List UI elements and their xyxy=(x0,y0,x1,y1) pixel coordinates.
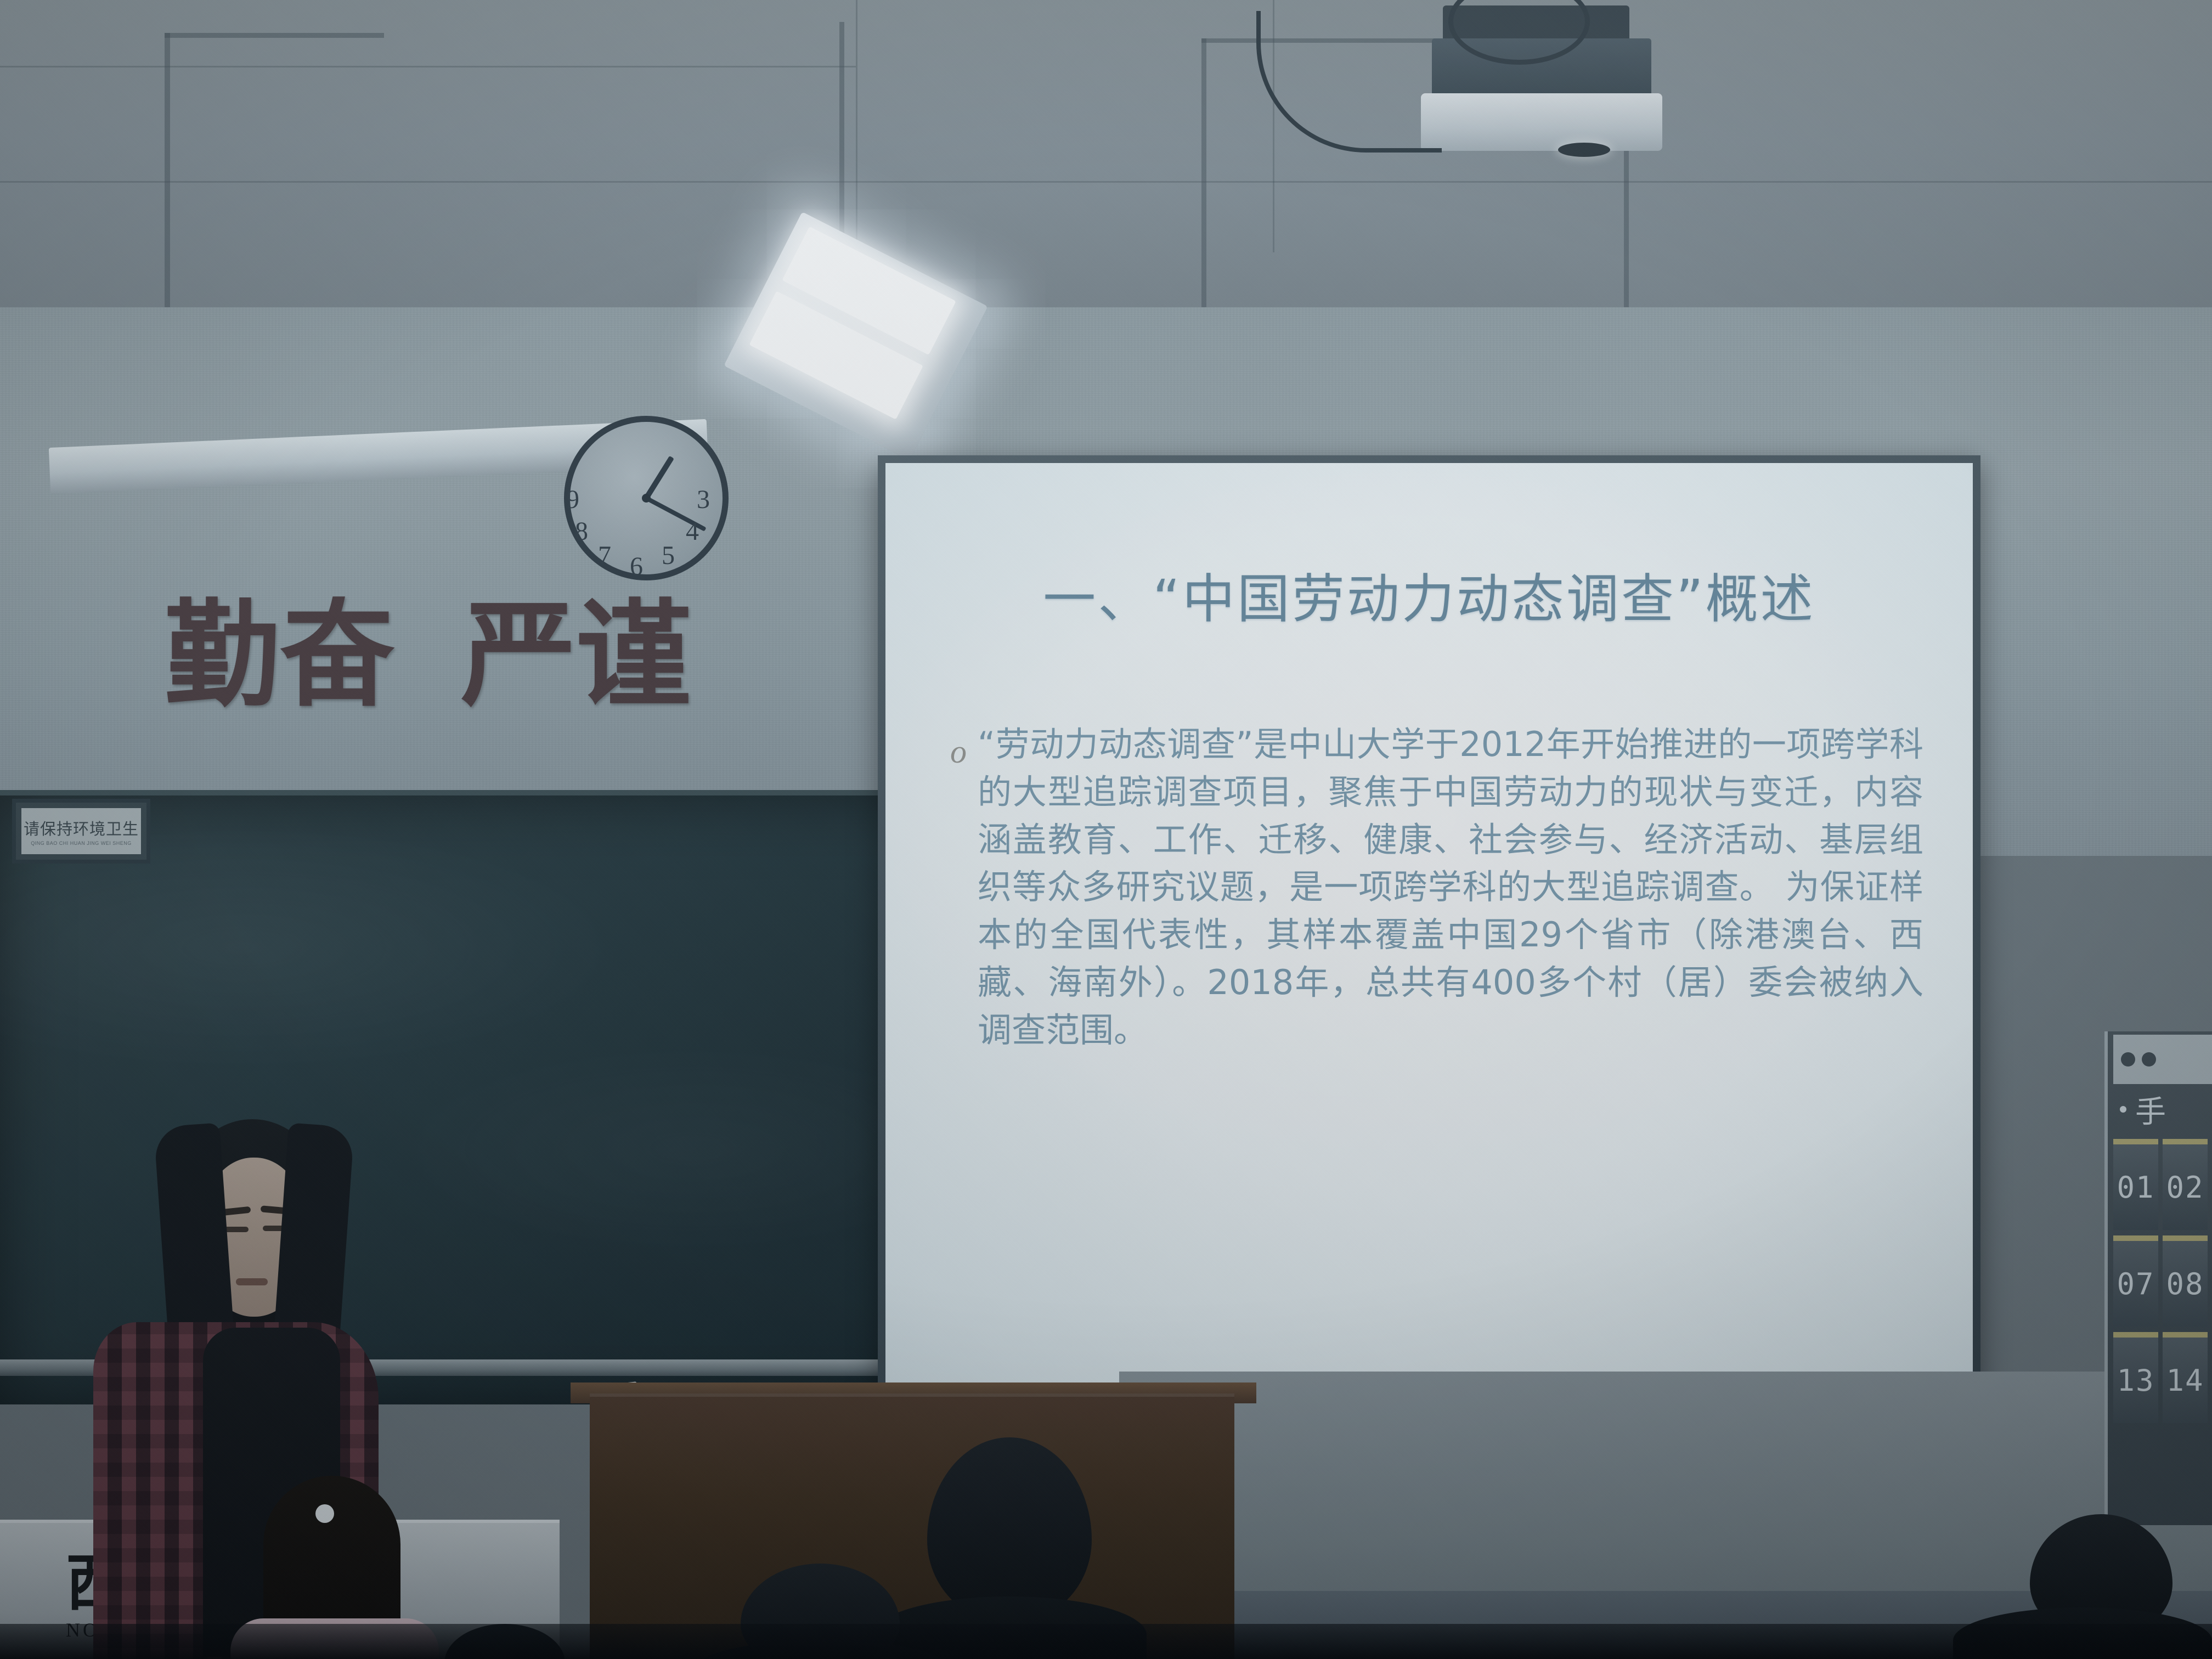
cabinet-slot[interactable]: 02 xyxy=(2163,1139,2208,1230)
clock-number: 6 xyxy=(622,554,651,580)
clock-center-pin xyxy=(642,494,651,503)
wall-slogan-right: 严谨 xyxy=(461,598,691,713)
classroom-scene: 3 4 5 6 7 8 9 勤奋 严谨 请保持环境卫生 QING BAO CHI… xyxy=(0,0,2212,1659)
cabinet-slot[interactable]: 01 xyxy=(2113,1139,2158,1230)
ceiling xyxy=(0,0,2212,351)
notice-sign-text-cn: 请保持环境卫生 xyxy=(24,816,139,839)
slide-body: o “劳动力动态调查”是中山大学于2012年开始推进的一项跨学科的大型追踪调查项… xyxy=(950,721,1923,1054)
presenter-mouth xyxy=(236,1278,268,1285)
notice-sign-text-pinyin: QING BAO CHI HUAN JING WEI SHENG xyxy=(31,840,132,846)
cabinet-knob-icon[interactable] xyxy=(2142,1052,2156,1066)
cabinet-label: 手 xyxy=(2113,1087,2212,1131)
projection-screen-frame: 一、“中国劳动力动态调查”概述 o “劳动力动态调查”是中山大学于2012年开始… xyxy=(878,455,1980,1399)
clock-number: 8 xyxy=(567,518,596,545)
projector-lens-icon xyxy=(1558,143,1610,157)
cabinet-knob-icon[interactable] xyxy=(2121,1052,2135,1066)
clock-number: 9 xyxy=(558,487,588,513)
clock-hour-hand xyxy=(644,456,674,500)
clock-number: 3 xyxy=(689,487,718,513)
clock-number: 4 xyxy=(678,518,707,545)
floor-shadow xyxy=(0,1624,2212,1659)
cabinet-dot-icon xyxy=(2120,1106,2126,1113)
ceiling-conduit xyxy=(165,33,170,307)
cabinet-slot[interactable]: 13 xyxy=(2113,1332,2158,1423)
notice-sign: 请保持环境卫生 QING BAO CHI HUAN JING WEI SHENG xyxy=(12,799,150,864)
wall-clock: 3 4 5 6 7 8 9 xyxy=(564,416,729,580)
ceiling-conduit xyxy=(1201,38,1206,346)
ceiling-conduit xyxy=(165,33,384,38)
cabinet-slot[interactable]: 14 xyxy=(2163,1332,2208,1423)
clock-number: 5 xyxy=(653,543,683,569)
cabinet-slot-grid: 01 02 07 08 13 14 xyxy=(2113,1139,2212,1423)
projector-body xyxy=(1421,93,1662,151)
wall-slogan: 勤奋 严谨 xyxy=(165,598,691,713)
cabinet-label-text: 手 xyxy=(2135,1087,2166,1132)
slide-bullet-icon: o xyxy=(950,721,967,1054)
phone-storage-cabinet[interactable]: 手 01 02 07 08 13 14 xyxy=(2104,1031,2212,1525)
projection-screen: 一、“中国劳动力动态调查”概述 o “劳动力动态调查”是中山大学于2012年开始… xyxy=(885,463,1973,1391)
wall-slogan-left: 勤奋 xyxy=(165,598,395,713)
slide-body-text: “劳动力动态调查”是中山大学于2012年开始推进的一项跨学科的大型追踪调查项目，… xyxy=(978,721,1923,1054)
slide-title: 一、“中国劳动力动态调查”概述 xyxy=(885,556,1973,633)
clock-number: 7 xyxy=(590,543,619,569)
hair-clip-icon xyxy=(315,1504,334,1523)
cabinet-slot[interactable]: 08 xyxy=(2163,1235,2208,1327)
cabinet-slot[interactable]: 07 xyxy=(2113,1235,2158,1327)
cabinet-top-shelf xyxy=(2113,1035,2212,1084)
